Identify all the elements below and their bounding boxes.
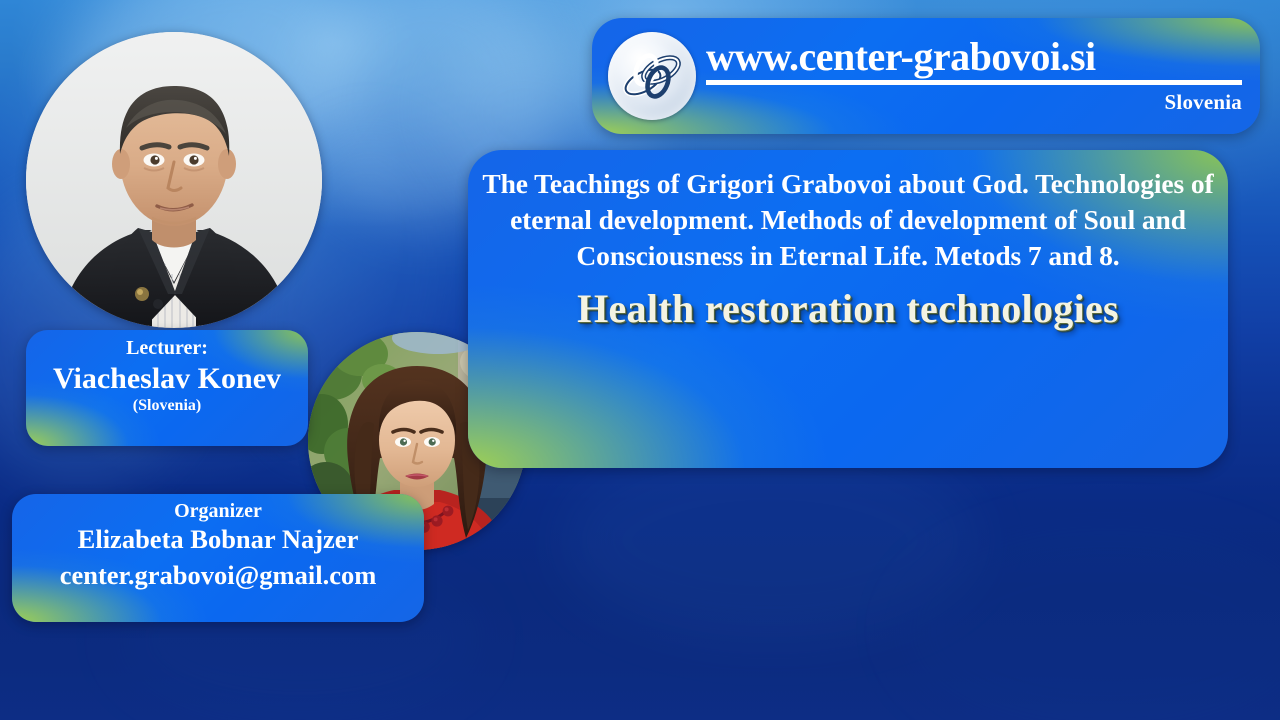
slide-canvas: www.center-grabovoi.si Slovenia The Teac… xyxy=(0,0,1280,720)
organizer-name: Elizabeta Bobnar Najzer xyxy=(22,523,414,556)
organizer-card: Organizer Elizabeta Bobnar Najzer center… xyxy=(12,494,424,622)
organizer-label: Organizer xyxy=(22,500,414,522)
interlocking-rings-logo-icon xyxy=(608,32,696,120)
website-url-link[interactable]: www.center-grabovoi.si xyxy=(706,37,1242,85)
lecturer-label: Lecturer: xyxy=(36,338,298,359)
lecturer-card: Lecturer: Viacheslav Konev (Slovenia) xyxy=(26,330,308,446)
lecturer-origin: (Slovenia) xyxy=(36,397,298,415)
lecturer-portrait-illustration xyxy=(26,32,322,328)
background-shadow-patch xyxy=(900,520,1280,720)
lecturer-name: Viacheslav Konev xyxy=(36,361,298,396)
banner-country-label: Slovenia xyxy=(706,90,1242,115)
sub-title: Health restoration technologies xyxy=(482,285,1214,333)
organizer-email-link[interactable]: center.grabovoi@gmail.com xyxy=(22,559,414,592)
presentation-title-card: The Teachings of Grigori Grabovoi about … xyxy=(468,150,1228,468)
lecturer-photo xyxy=(26,32,322,328)
background-shadow-patch xyxy=(560,440,980,640)
main-title: The Teachings of Grigori Grabovoi about … xyxy=(482,166,1214,273)
website-banner[interactable]: www.center-grabovoi.si Slovenia xyxy=(592,18,1260,134)
logo-glyph xyxy=(616,40,688,112)
